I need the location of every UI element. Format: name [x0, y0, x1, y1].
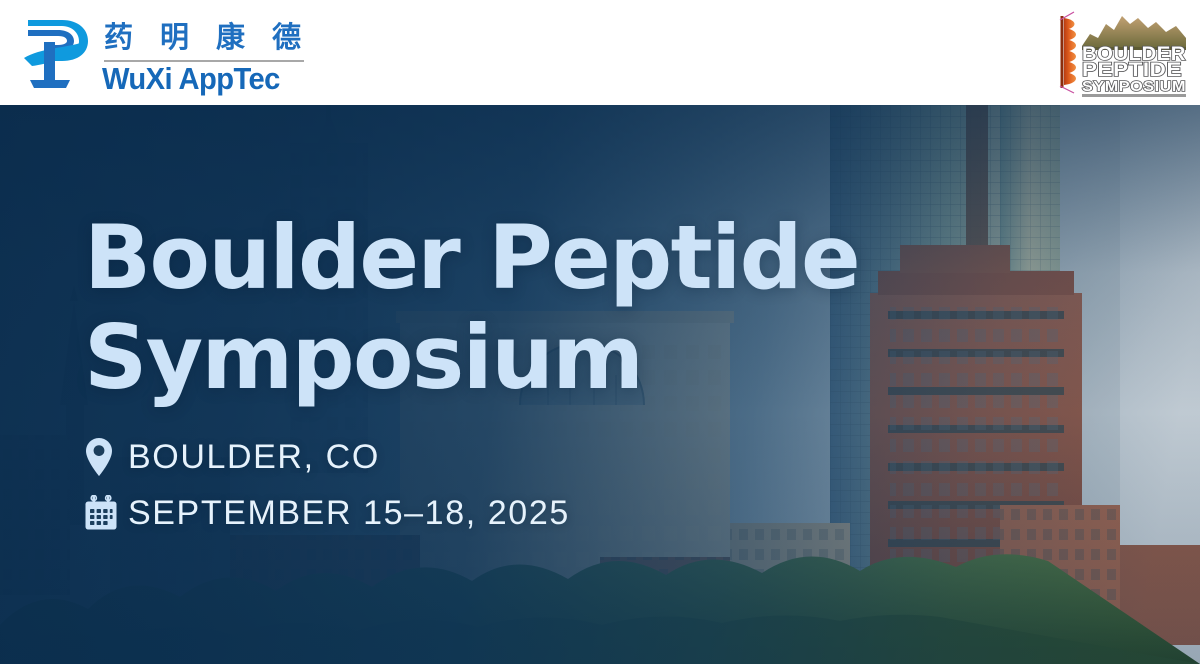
hero-content: Boulder Peptide Symposium BOULDER, CO: [84, 208, 1004, 546]
wuxi-char-4: 德: [272, 18, 301, 56]
hero-banner: Boulder Peptide Symposium BOULDER, CO: [0, 105, 1200, 664]
event-banner: 药 明 康 德 WuXi AppTec: [0, 0, 1200, 664]
event-location: BOULDER, CO: [128, 437, 380, 477]
page-title: Boulder Peptide Symposium: [84, 208, 1004, 408]
wuxi-chinese-name: 药 明 康 德: [104, 18, 314, 58]
event-dates: SEPTEMBER 15–18, 2025: [128, 493, 570, 533]
event-dates-row: SEPTEMBER 15–18, 2025: [84, 490, 1004, 536]
wuxi-char-3: 康: [216, 18, 245, 56]
map-pin-icon: [84, 437, 128, 477]
wuxi-char-2: 明: [160, 18, 189, 56]
bps-line-3: SYMPOSIUM: [1082, 78, 1186, 95]
wuxi-apptec-logo[interactable]: 药 明 康 德 WuXi AppTec: [22, 12, 322, 92]
wuxi-apptec-wordmark: WuXi AppTec: [102, 62, 304, 96]
event-location-row: BOULDER, CO: [84, 434, 1004, 480]
calendar-icon: [84, 495, 128, 531]
boulder-peptide-symposium-logo[interactable]: BOULDER PEPTIDE SYMPOSIUM: [1052, 4, 1192, 100]
wuxi-char-1: 药: [104, 18, 133, 56]
header-bar: 药 明 康 德 WuXi AppTec: [0, 0, 1200, 105]
event-details: BOULDER, CO: [84, 434, 1004, 536]
wuxi-apptec-mark-icon: [22, 14, 94, 90]
